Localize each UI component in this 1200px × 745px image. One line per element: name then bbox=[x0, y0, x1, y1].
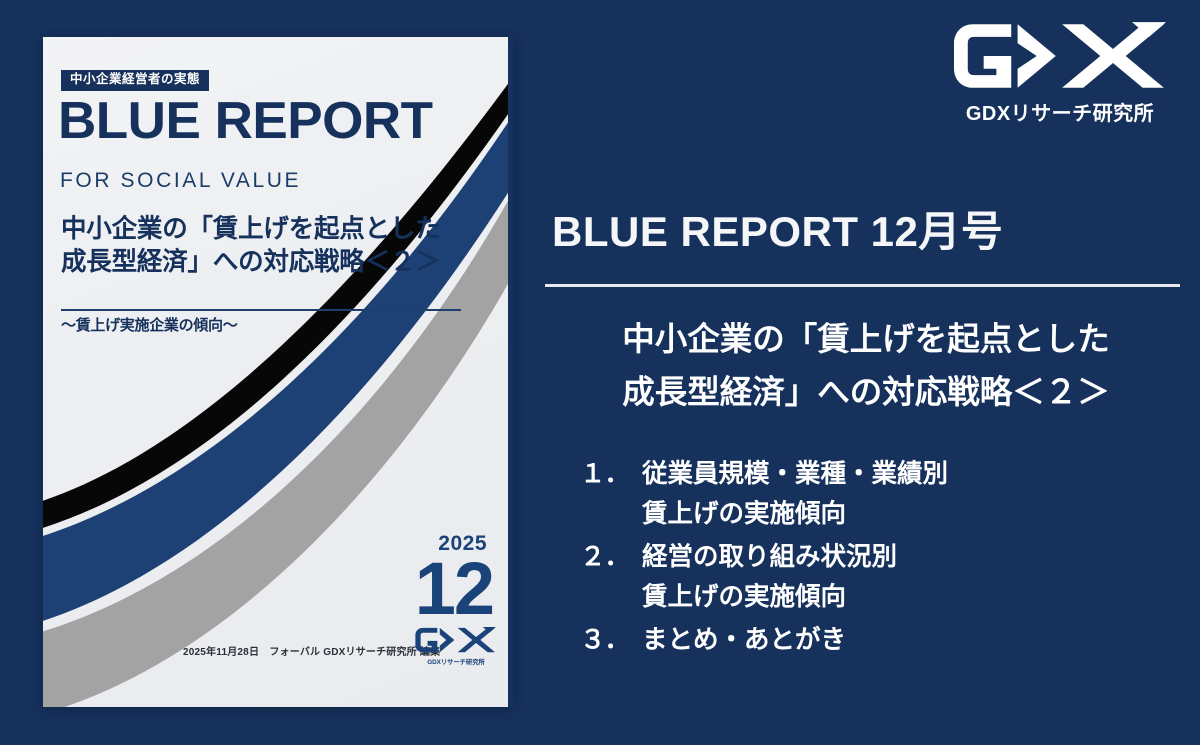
page-subtitle-line-1: 中小企業の「賃上げを起点とした bbox=[556, 313, 1176, 366]
toc-label: 従業員規模・業種・業績別 bbox=[642, 462, 1180, 488]
cover-credit: 2025年11月28日 フォーバル GDXリサーチ研究所 編集 bbox=[183, 643, 440, 658]
page-title: BLUE REPORT 12月号 bbox=[552, 198, 1003, 259]
page-subtitle-line-2: 成長型経済」への対応戦略＜２＞ bbox=[556, 366, 1176, 419]
cover-right-edge bbox=[508, 37, 513, 707]
toc-label-continued: 賃上げの実施傾向 bbox=[580, 585, 1180, 611]
toc-number: １． bbox=[580, 462, 642, 488]
toc-item-3: ３． まとめ・あとがき bbox=[580, 628, 1180, 654]
cover-gdx-logo: GDXリサーチ研究所 bbox=[415, 627, 497, 666]
toc-label: まとめ・あとがき bbox=[642, 628, 1180, 654]
cover-tagline: FOR SOCIAL VALUE bbox=[60, 169, 301, 193]
page-subtitle: 中小企業の「賃上げを起点とした 成長型経済」への対応戦略＜２＞ bbox=[556, 313, 1176, 418]
title-divider bbox=[545, 284, 1180, 287]
toc-number: ３． bbox=[580, 628, 642, 654]
toc-number: ２． bbox=[580, 545, 642, 571]
cover-title: 中小企業の「賃上げを起点とした 成長型経済」への対応戦略＜２＞ bbox=[61, 213, 481, 278]
cover-month: 12 bbox=[415, 552, 493, 626]
table-of-contents: １． 従業員規模・業種・業績別 賃上げの実施傾向 ２． 経営の取り組み状況別 賃… bbox=[580, 462, 1180, 654]
gdx-logo-icon bbox=[415, 627, 497, 653]
toc-item-1: １． 従業員規模・業種・業績別 賃上げの実施傾向 bbox=[580, 462, 1180, 527]
cover-logo-caption: GDXリサーチ研究所 bbox=[415, 657, 497, 666]
toc-label-continued: 賃上げの実施傾向 bbox=[580, 502, 1180, 528]
cover-title-line-2: 成長型経済」への対応戦略＜２＞ bbox=[61, 246, 481, 279]
slide-root: 中小企業経営者の実態 BLUE REPORT FOR SOCIAL VALUE … bbox=[0, 0, 1200, 745]
toc-item-2: ２． 経営の取り組み状況別 賃上げの実施傾向 bbox=[580, 545, 1180, 610]
magazine-cover: 中小企業経営者の実態 BLUE REPORT FOR SOCIAL VALUE … bbox=[43, 37, 513, 707]
cover-title-line-1: 中小企業の「賃上げを起点とした bbox=[61, 213, 481, 246]
cover-subtitle: 〜賃上げ実施企業の傾向〜 bbox=[61, 314, 237, 335]
content-panel: GDXリサーチ研究所 BLUE REPORT 12月号 中小企業の「賃上げを起点… bbox=[540, 0, 1200, 745]
cover-title-divider bbox=[61, 309, 461, 311]
brand-caption: GDXリサーチ研究所 bbox=[944, 97, 1176, 126]
cover-masthead: BLUE REPORT bbox=[58, 95, 433, 147]
toc-label: 経営の取り組み状況別 bbox=[642, 545, 1180, 571]
brand-logo: GDXリサーチ研究所 bbox=[944, 22, 1176, 126]
gdx-logo-icon bbox=[954, 22, 1166, 90]
cover-badge: 中小企業経営者の実態 bbox=[61, 70, 209, 91]
